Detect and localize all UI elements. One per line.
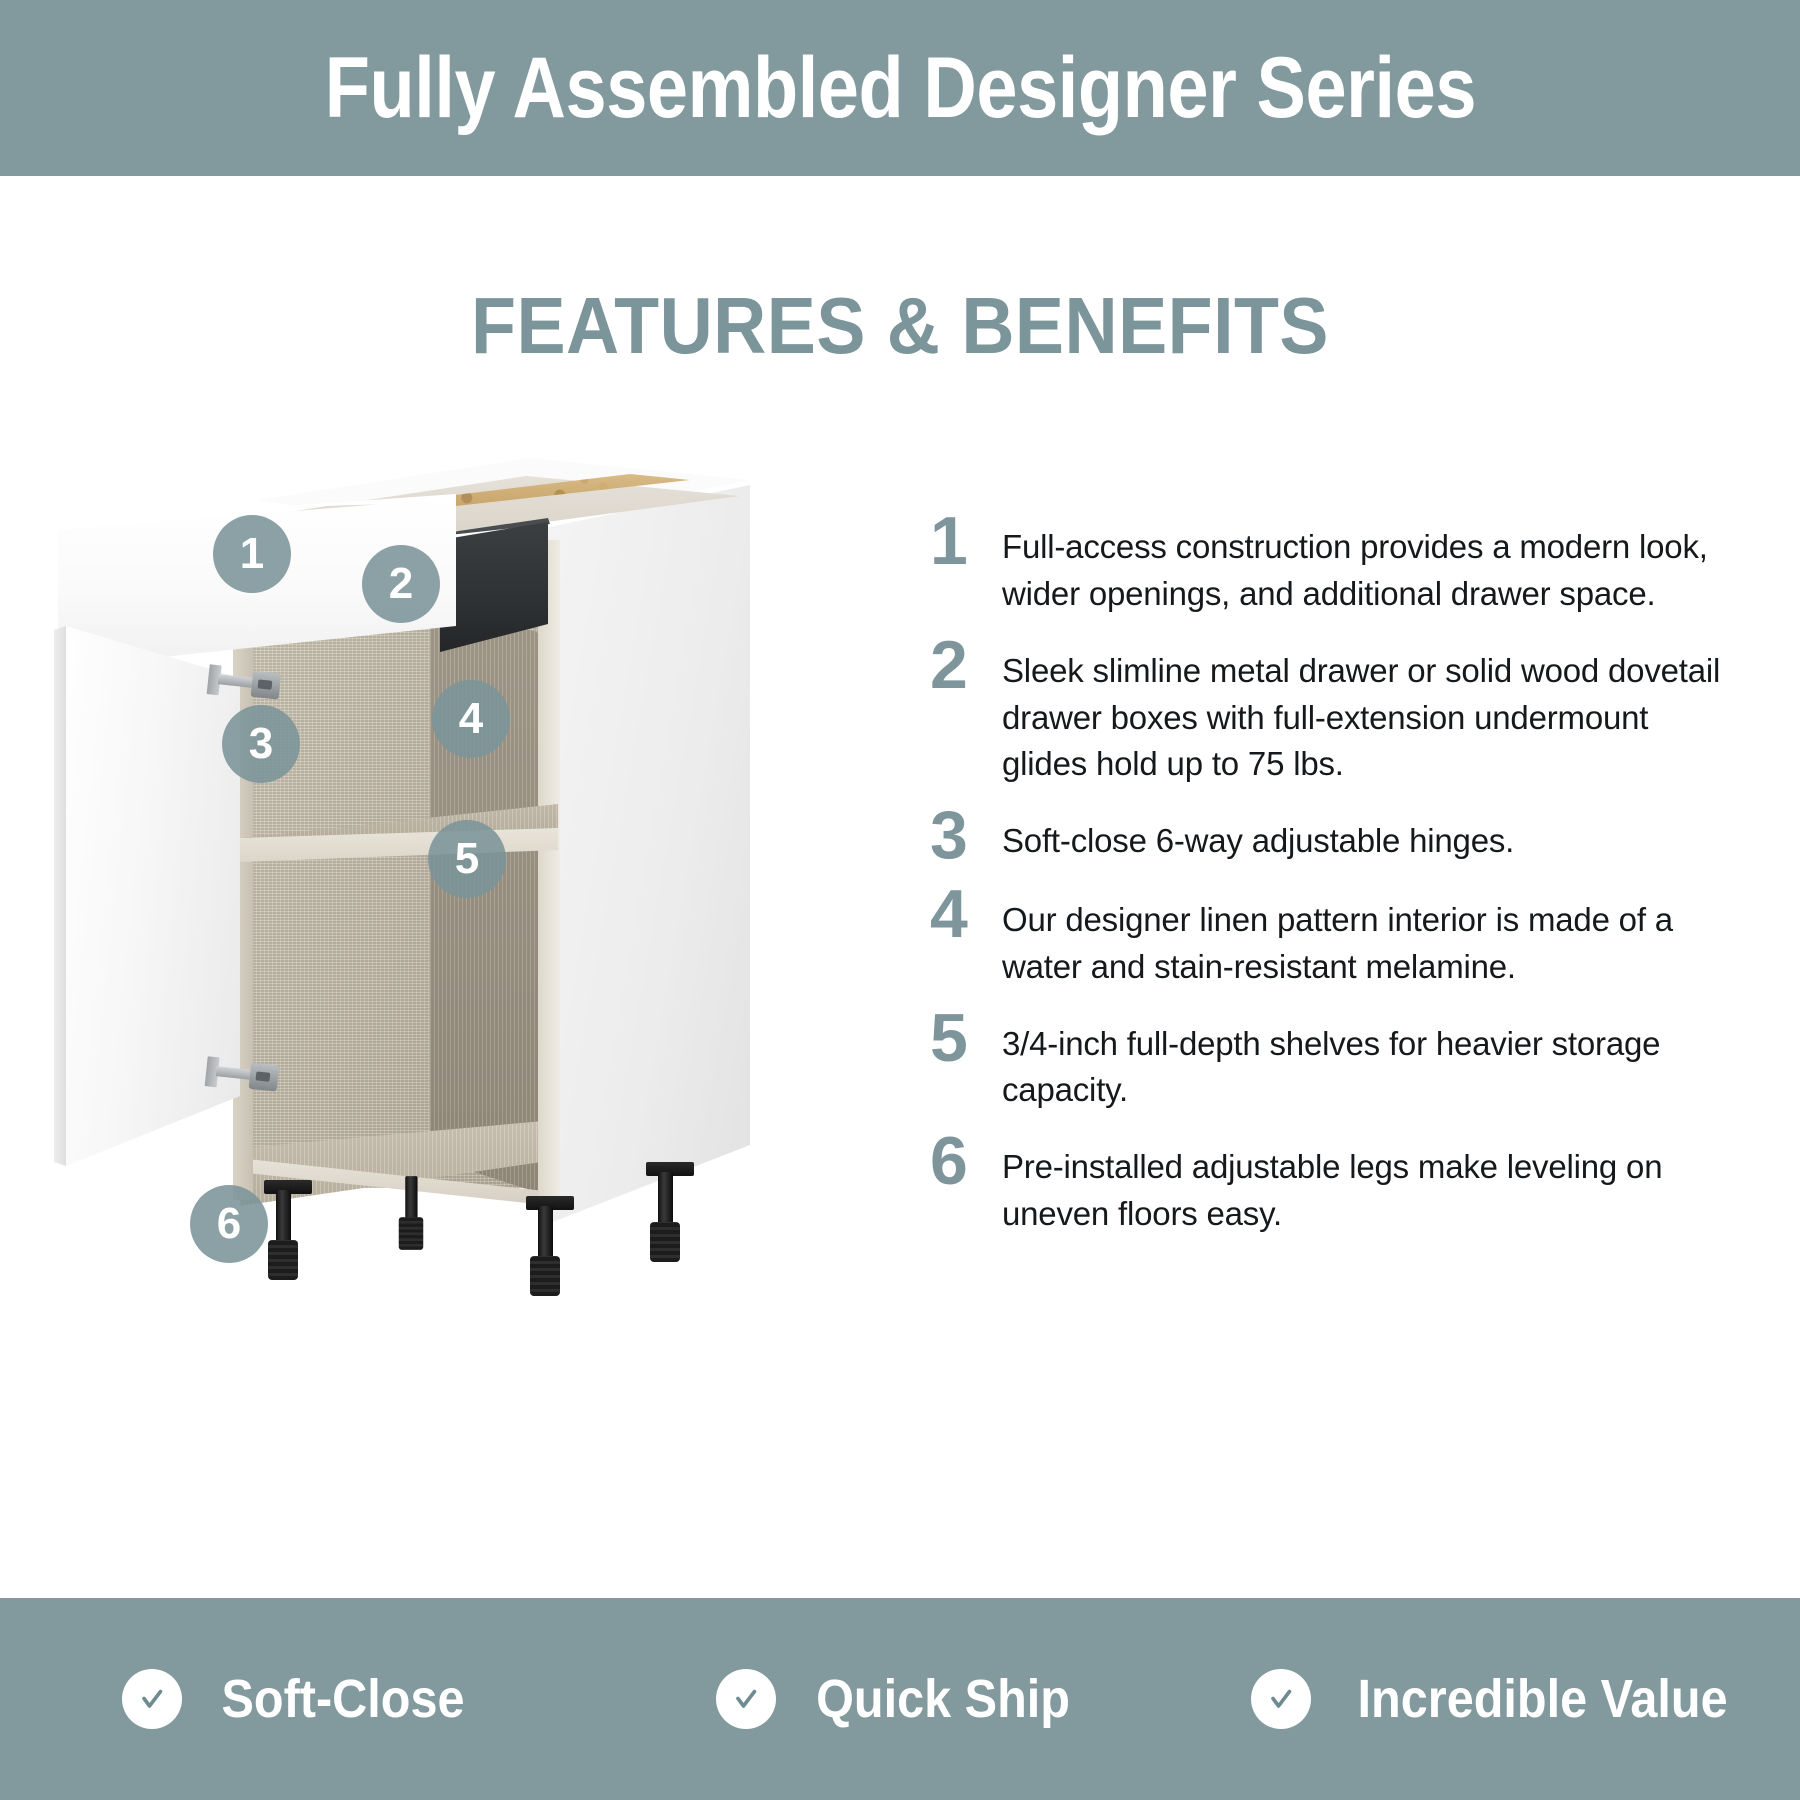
- feature-description: 3/4-inch full-depth shelves for heavier …: [1002, 1017, 1730, 1115]
- feature-item-6: 6 Pre-installed adjustable legs make lev…: [930, 1140, 1730, 1238]
- adjustable-leg: [399, 1176, 424, 1250]
- feature-item-2: 2 Sleek slimline metal drawer or solid w…: [930, 644, 1730, 789]
- callout-badge-4: 4: [432, 680, 510, 758]
- hinge-cup: [249, 1063, 280, 1092]
- footer-badge-incredible-value: Incredible Value: [1200, 1668, 1800, 1730]
- feature-item-3: 3 Soft-close 6-way adjustable hinges.: [930, 814, 1730, 867]
- callout-badge-3: 3: [222, 705, 300, 783]
- check-circle-icon: [122, 1669, 182, 1729]
- feature-number: 1: [930, 510, 1002, 573]
- check-circle-icon: [1251, 1669, 1311, 1729]
- adjustable-leg: [530, 1206, 560, 1296]
- feature-number: 3: [930, 804, 1002, 867]
- leg-foot: [650, 1222, 680, 1262]
- footer-label: Soft-Close: [222, 1668, 465, 1730]
- leg-foot: [268, 1240, 298, 1280]
- feature-description: Sleek slimline metal drawer or solid woo…: [1002, 644, 1730, 789]
- feature-item-4: 4 Our designer linen pattern interior is…: [930, 893, 1730, 991]
- callout-badge-1: 1: [213, 515, 291, 593]
- cabinet-right-front-stile: [538, 540, 560, 1200]
- callout-badge-5: 5: [428, 820, 506, 898]
- feature-number: 4: [930, 883, 1002, 946]
- footer-bar: Soft-Close Quick Ship Incredible Value: [0, 1598, 1800, 1800]
- footer-badge-quick-ship: Quick Ship: [600, 1668, 1200, 1730]
- leg-foot: [530, 1256, 560, 1296]
- feature-description: Pre-installed adjustable legs make level…: [1002, 1140, 1730, 1238]
- leg-foot: [399, 1217, 424, 1250]
- adjustable-leg: [268, 1190, 298, 1280]
- adjustable-leg: [650, 1172, 680, 1262]
- hinge-cup: [251, 671, 282, 700]
- feature-description: Full-access construction provides a mode…: [1002, 520, 1730, 618]
- feature-number: 5: [930, 1007, 1002, 1070]
- feature-description: Our designer linen pattern interior is m…: [1002, 893, 1730, 991]
- footer-badge-soft-close: Soft-Close: [0, 1668, 600, 1730]
- footer-label: Quick Ship: [816, 1668, 1070, 1730]
- footer-label: Incredible Value: [1358, 1668, 1728, 1730]
- section-heading: FEATURES & BENEFITS: [72, 280, 1728, 372]
- callout-badge-6: 6: [190, 1185, 268, 1263]
- cabinet-door-edge: [54, 626, 68, 1168]
- check-circle-icon: [716, 1669, 776, 1729]
- feature-item-1: 1 Full-access construction provides a mo…: [930, 520, 1730, 618]
- cabinet-right-side-panel: [545, 485, 750, 1225]
- feature-number: 6: [930, 1130, 1002, 1193]
- feature-description: Soft-close 6-way adjustable hinges.: [1002, 814, 1730, 865]
- features-list: 1 Full-access construction provides a mo…: [930, 520, 1730, 1264]
- feature-item-5: 5 3/4-inch full-depth shelves for heavie…: [930, 1017, 1730, 1115]
- page-title: Fully Assembled Designer Series: [324, 39, 1475, 138]
- feature-number: 2: [930, 634, 1002, 697]
- callout-badge-2: 2: [362, 545, 440, 623]
- header-bar: Fully Assembled Designer Series: [0, 0, 1800, 176]
